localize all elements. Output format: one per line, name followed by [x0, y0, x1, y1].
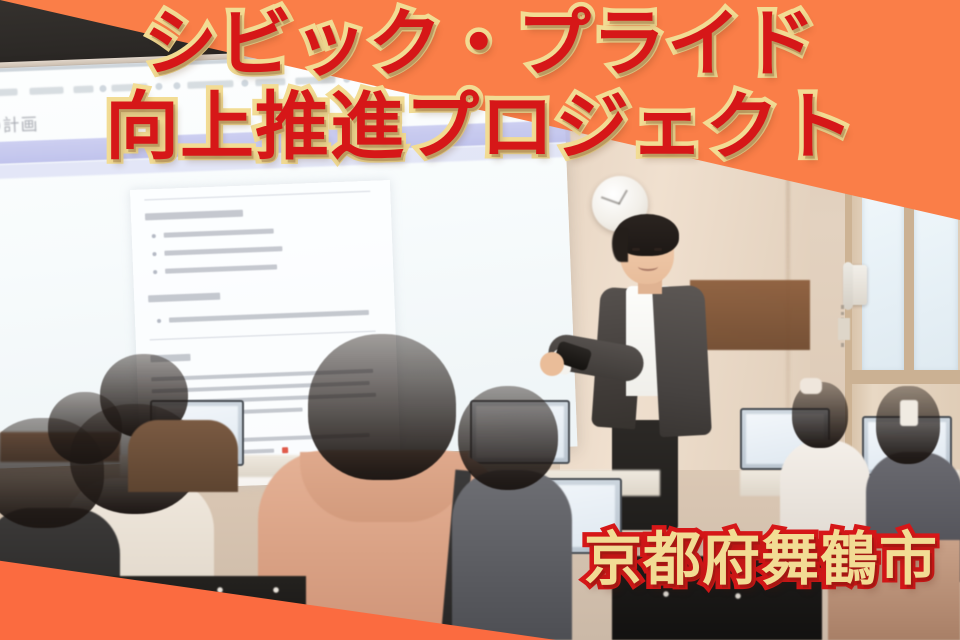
presenter-hand [540, 352, 564, 376]
presenter-jacket-right [652, 285, 712, 438]
window-mullion [904, 110, 914, 372]
wall-plate [838, 318, 850, 340]
student-clothing-pattern [96, 576, 306, 640]
student-clothing-pattern [612, 556, 822, 640]
student-body [828, 540, 960, 640]
student-body [452, 470, 572, 640]
presenter-smile [638, 262, 658, 271]
classroom-photo: の計画 [0, 0, 960, 640]
projected-document-heading: の計画 [0, 110, 39, 137]
student-body [128, 420, 238, 492]
window-pane [914, 110, 958, 372]
wall-seam [786, 40, 790, 470]
window-mullion [904, 28, 912, 88]
window-mullion [852, 92, 960, 110]
student-head [458, 386, 558, 490]
hair-clip-icon [800, 378, 822, 394]
presenter-eye [632, 248, 640, 251]
window-pane [862, 112, 904, 372]
presenter-eye [654, 248, 662, 251]
promo-banner-screenshot: の計画 [0, 0, 960, 640]
student-head [308, 334, 456, 480]
phone-handset [843, 262, 853, 310]
window-sill [850, 370, 960, 384]
presenter-hair-side [612, 228, 628, 262]
hair-clip-icon [900, 400, 918, 426]
wooden-cabinet [690, 280, 810, 350]
window-pane [912, 28, 956, 86]
window-pane [858, 30, 902, 88]
